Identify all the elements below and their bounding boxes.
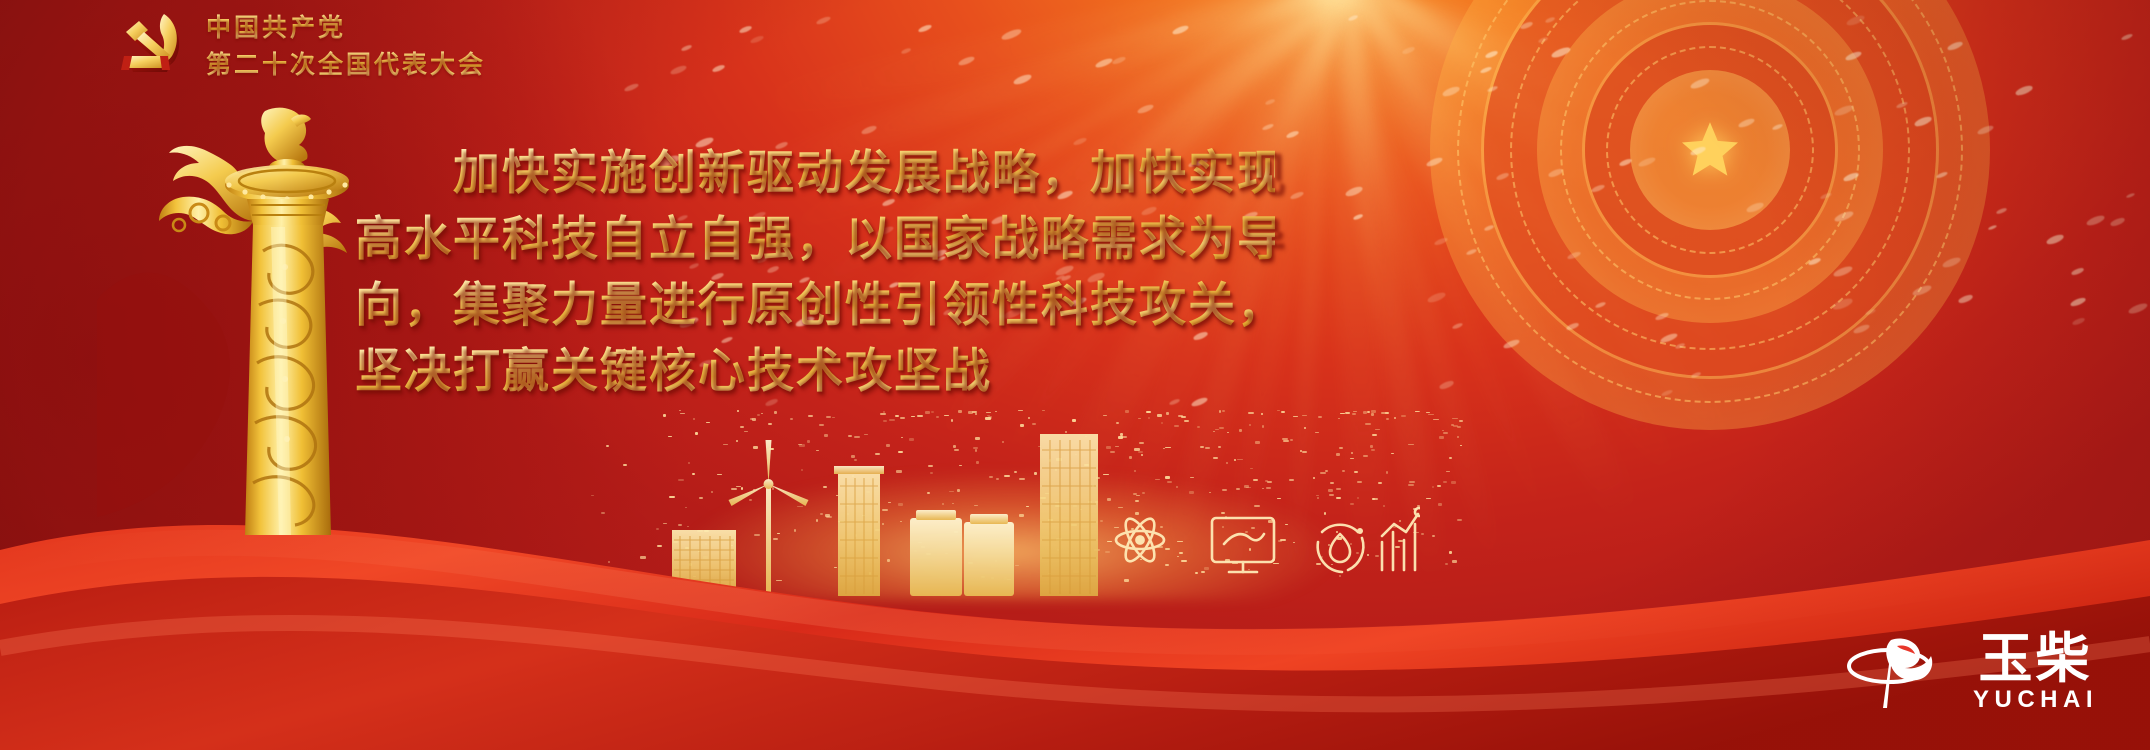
slogan-line-1: 加快实施创新驱动发展战略，加快实现 bbox=[453, 140, 1275, 206]
slogan-block: 加快实施创新驱动发展战略，加快实现 高水平科技自立自强，以国家战略需求为导 向，… bbox=[355, 140, 1275, 404]
yuchai-swoosh-icon bbox=[1845, 634, 1957, 710]
congress-title-line2: 第二十次全国代表大会 bbox=[206, 45, 486, 81]
slogan-line-2: 高水平科技自立自强，以国家战略需求为导 bbox=[355, 206, 1275, 272]
congress-title-line1: 中国共产党 bbox=[206, 8, 486, 44]
yuchai-name-en: YUCHAI bbox=[1973, 688, 2098, 712]
yuchai-logo: 玉柴 YUCHAI bbox=[1845, 632, 2098, 712]
banner-root: 中国共产党 第二十次全国代表大会 加快实施创新驱动发展战略，加快实现 高水平科技… bbox=[0, 0, 2150, 750]
cpc-congress-lockup: 中国共产党 第二十次全国代表大会 bbox=[120, 8, 486, 81]
hammer-sickle-icon bbox=[120, 12, 192, 78]
yuchai-name-cn: 玉柴 bbox=[1978, 632, 2092, 686]
huabiao-pillar-icon bbox=[95, 105, 395, 535]
slogan-line-3: 向，集聚力量进行原创性引领性科技攻关， bbox=[355, 272, 1275, 338]
slogan-line-4: 坚决打赢关键核心技术攻坚战 bbox=[355, 338, 1275, 404]
